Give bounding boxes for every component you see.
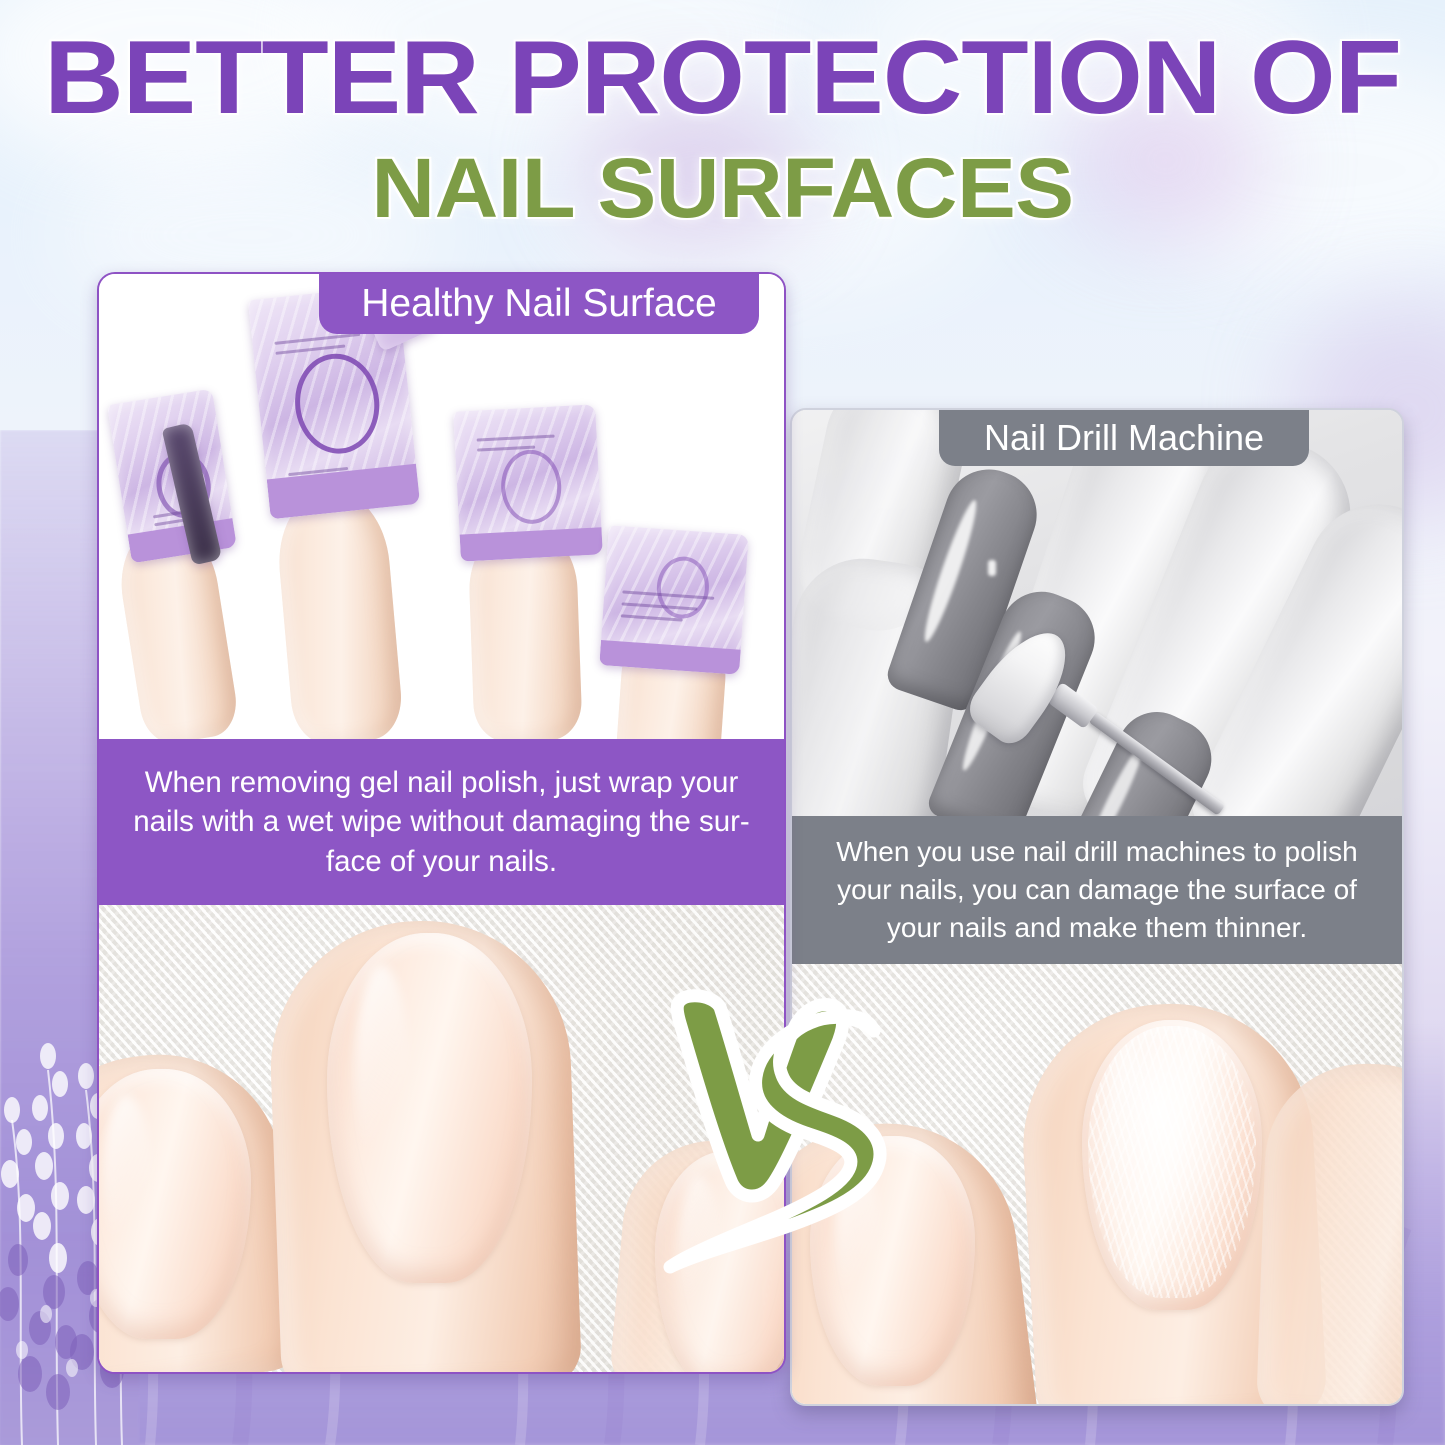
nail-drill-photo: Nail Drill Machine — [792, 410, 1402, 816]
badge-label: Healthy Nail Surface — [361, 282, 717, 326]
panel-nail-drill-machine: Nail Drill Machine When you use nail dri… — [790, 408, 1404, 1406]
gel-remover-wipes-photo: Healthy Nail Surface — [99, 274, 784, 739]
headline-line-2: NAIL SURFACES — [0, 146, 1445, 230]
caption-text: When removing gel nail polish, just wrap… — [117, 763, 766, 881]
infographic-stage: BETTER PROTECTION OF NAIL SURFACES — [0, 0, 1445, 1445]
caption-healthy-nail: When removing gel nail polish, just wrap… — [99, 739, 784, 905]
badge-label: Nail Drill Machine — [984, 417, 1264, 459]
headline-block: BETTER PROTECTION OF NAIL SURFACES — [0, 0, 1445, 230]
headline-line-1: BETTER PROTECTION OF — [0, 26, 1445, 130]
damaged-nails-photo — [792, 964, 1402, 1404]
healthy-nails-photo — [99, 905, 784, 1372]
badge-nail-drill-machine: Nail Drill Machine — [939, 410, 1309, 466]
caption-nail-drill: When you use nail drill machines to poli… — [792, 816, 1402, 964]
badge-healthy-nail-surface: Healthy Nail Surface — [319, 274, 759, 334]
caption-text: When you use nail drill machines to poli… — [812, 833, 1382, 946]
panel-healthy-nail-surface: Healthy Nail Surface When removing gel n… — [97, 272, 786, 1374]
